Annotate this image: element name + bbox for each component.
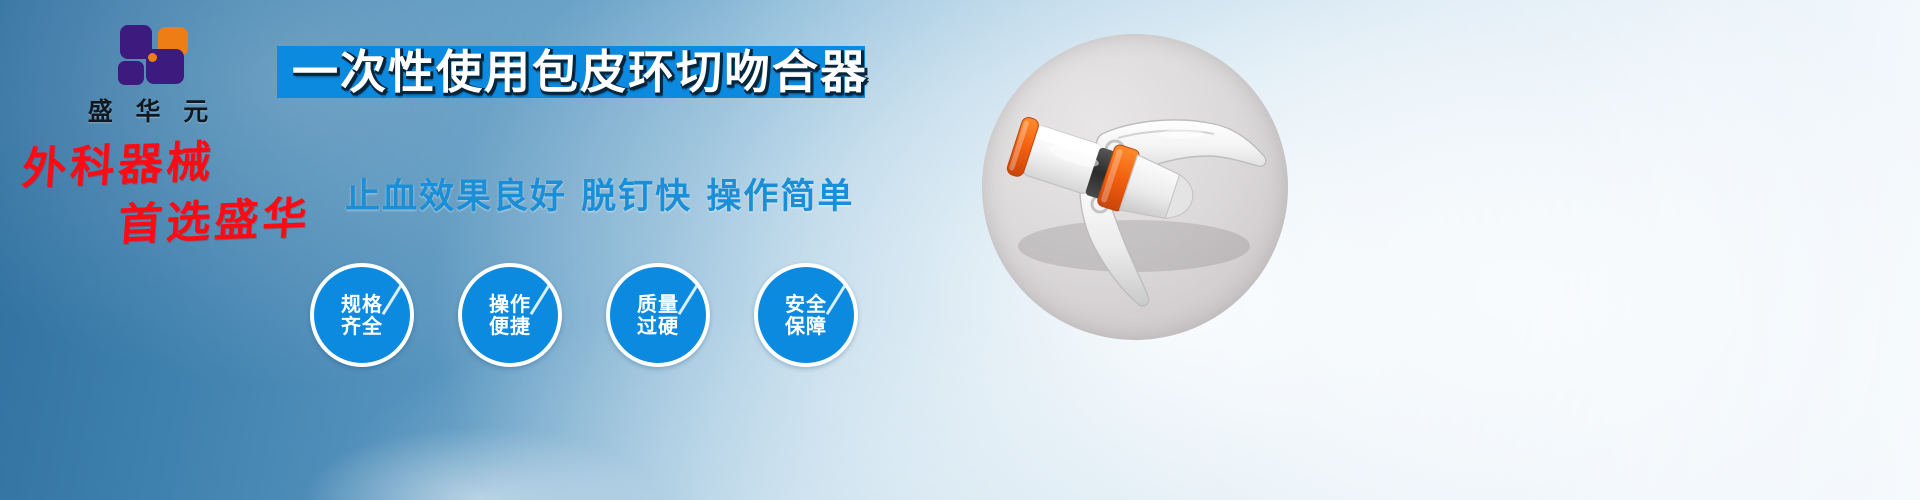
feature-label-line-2: 齐全	[341, 315, 383, 337]
logo-shape-dot	[148, 53, 157, 62]
slogan-line-1: 外科器械	[21, 135, 365, 192]
logo-shape-bottom-left	[118, 61, 144, 85]
feature-badge-label: 质量 过硬	[637, 293, 679, 338]
page-title: 一次性使用包皮环切吻合器	[292, 44, 868, 100]
slash-highlight-icon	[530, 283, 552, 315]
slash-highlight-icon	[678, 283, 700, 315]
feature-badge-quality[interactable]: 质量 过硬	[606, 263, 710, 367]
feature-badge-operation[interactable]: 操作 便捷	[458, 263, 562, 367]
brand-logo[interactable]: 盛 华 元	[58, 25, 238, 128]
feature-badge-list: 规格 齐全 操作 便捷 质量 过硬 安全 保障	[310, 263, 858, 367]
slash-highlight-icon	[382, 283, 404, 315]
feature-label-line-1: 规格	[341, 293, 383, 315]
brand-name: 盛 华 元	[58, 92, 238, 128]
red-calligraphy-slogan: 外科器械 首选盛华	[22, 148, 362, 248]
slash-highlight-icon	[826, 283, 848, 315]
feature-badge-label: 规格 齐全	[341, 293, 383, 338]
feature-label-line-1: 安全	[785, 293, 827, 315]
surgical-stapler-illustration	[982, 34, 1288, 340]
logo-mark-icon	[110, 25, 186, 87]
feature-label-line-2: 过硬	[637, 315, 679, 337]
feature-label-line-1: 质量	[637, 293, 679, 315]
feature-badge-specifications[interactable]: 规格 齐全	[310, 263, 414, 367]
product-banner: 盛 华 元 外科器械 首选盛华 一次性使用包皮环切吻合器 止血效果良好 脱钉快 …	[0, 0, 1920, 500]
decorative-arc	[300, 426, 660, 500]
product-photo	[982, 34, 1288, 340]
subtitle-text: 止血效果良好 脱钉快 操作简单	[345, 168, 854, 219]
slogan-line-2: 首选盛华	[117, 195, 365, 248]
feature-label-line-2: 保障	[785, 315, 827, 337]
feature-label-line-2: 便捷	[489, 315, 531, 337]
feature-label-line-1: 操作	[489, 293, 531, 315]
feature-badge-label: 操作 便捷	[489, 293, 531, 338]
feature-badge-safety[interactable]: 安全 保障	[754, 263, 858, 367]
feature-badge-label: 安全 保障	[785, 293, 827, 338]
